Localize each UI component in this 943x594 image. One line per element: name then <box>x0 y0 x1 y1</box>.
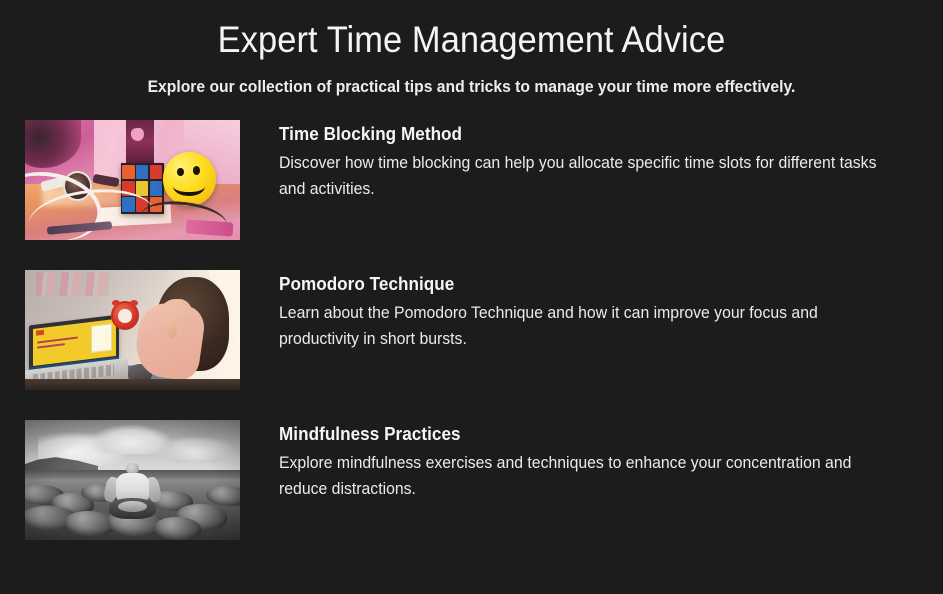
slide-logo-icon <box>36 330 44 336</box>
slide-text-line-1 <box>37 336 79 343</box>
card-body: Pomodoro Technique Learn about the Pomod… <box>240 270 917 352</box>
page-subtitle: Explore our collection of practical tips… <box>24 76 920 98</box>
smiley-eye-right <box>193 166 200 175</box>
slide-panel <box>91 323 113 353</box>
page-header: Expert Time Management Advice Explore ou… <box>0 0 943 98</box>
advice-card[interactable]: Mindfulness Practices Explore mindfulnes… <box>25 420 917 540</box>
desk-surface <box>25 379 240 390</box>
card-description: Discover how time blocking can help you … <box>279 151 898 202</box>
poster-icon <box>126 120 154 163</box>
advice-card[interactable]: Time Blocking Method Discover how time b… <box>25 120 917 240</box>
page-root: Expert Time Management Advice Explore ou… <box>0 0 943 594</box>
card-body: Time Blocking Method Discover how time b… <box>240 120 917 202</box>
advice-card-list: Time Blocking Method Discover how time b… <box>0 120 943 540</box>
smiley-mouth <box>173 176 204 195</box>
alarm-clock-icon <box>111 301 139 330</box>
page-title: Expert Time Management Advice <box>33 17 910 63</box>
card-thumbnail-mindfulness[interactable] <box>25 420 240 540</box>
card-thumbnail-pomodoro[interactable] <box>25 270 240 390</box>
card-heading[interactable]: Mindfulness Practices <box>279 422 885 446</box>
card-description: Learn about the Pomodoro Technique and h… <box>279 301 898 352</box>
card-heading[interactable]: Time Blocking Method <box>279 122 885 146</box>
photo-vignette <box>25 420 240 540</box>
card-body: Mindfulness Practices Explore mindfulnes… <box>240 420 917 502</box>
clock-face <box>118 309 131 323</box>
card-description: Explore mindfulness exercises and techni… <box>279 451 898 502</box>
slide-text-line-2 <box>37 343 65 349</box>
card-thumbnail-time-blocking[interactable] <box>25 120 240 240</box>
advice-card[interactable]: Pomodoro Technique Learn about the Pomod… <box>25 270 917 390</box>
card-heading[interactable]: Pomodoro Technique <box>279 272 885 296</box>
person-hand <box>166 315 178 338</box>
smiley-eye-left <box>177 168 184 177</box>
wall-art-icon <box>36 272 109 296</box>
clock-bell-left <box>112 300 120 306</box>
